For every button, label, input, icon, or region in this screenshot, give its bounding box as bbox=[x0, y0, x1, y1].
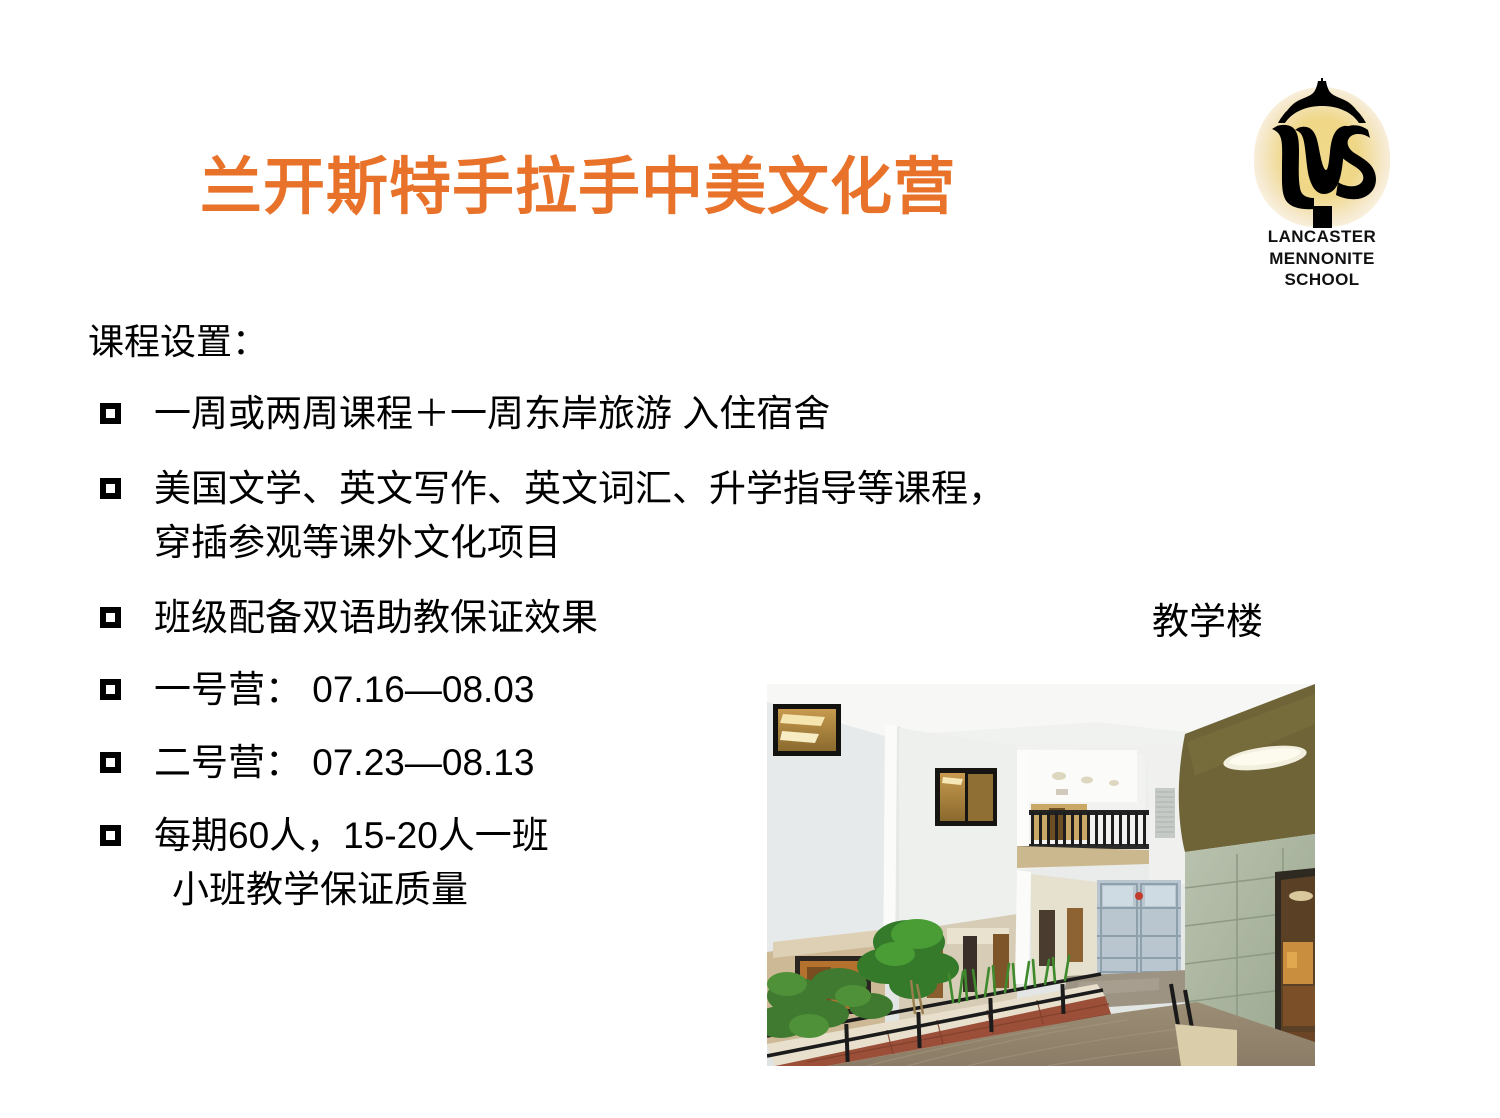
bullet-item-courses: 美国文学、英文写作、英文词汇、升学指导等课程， 穿插参观等课外文化项目 bbox=[88, 463, 1128, 570]
bullet-text-line-1: 班级配备双语助教保证效果 bbox=[154, 597, 598, 638]
hollow-square-bullet-icon bbox=[100, 752, 121, 773]
bullet-text-line-1: 二号营： 07.23—08.13 bbox=[154, 742, 534, 783]
section-heading: 课程设置： bbox=[88, 322, 1128, 362]
bullet-text-line-1: 一号营： 07.16—08.03 bbox=[154, 669, 534, 710]
bullet-text-line-1: 一周或两周课程＋一周东岸旅游 入住宿舍 bbox=[154, 393, 830, 434]
bullet-text-line-1: 每期60人，15-20人一班 bbox=[154, 815, 549, 856]
logo-wordmark-line-3: SCHOOL bbox=[1236, 269, 1408, 291]
logo-wordmark-line-1: LANCASTER bbox=[1236, 226, 1408, 248]
school-building-photo bbox=[767, 684, 1315, 1066]
hollow-square-bullet-icon bbox=[100, 478, 121, 499]
hollow-square-bullet-icon bbox=[100, 825, 121, 846]
hollow-square-bullet-icon bbox=[100, 679, 121, 700]
lancaster-mennonite-school-logo: LANCASTER MENNONITE SCHOOL bbox=[1236, 78, 1408, 304]
bullet-text-line-1: 美国文学、英文写作、英文词汇、升学指导等课程， bbox=[154, 468, 1005, 509]
bullet-item-bilingual-assistant: 班级配备双语助教保证效果 bbox=[88, 592, 1128, 645]
lms-lamp-emblem-icon bbox=[1244, 78, 1400, 230]
logo-wordmark: LANCASTER MENNONITE SCHOOL bbox=[1236, 226, 1408, 291]
logo-wordmark-line-2: MENNONITE bbox=[1236, 248, 1408, 270]
photo-caption: 教学楼 bbox=[1152, 600, 1263, 644]
bullet-text-line-2: 穿插参观等课外文化项目 bbox=[154, 517, 1128, 570]
slide-title: 兰开斯特手拉手中美文化营 bbox=[200, 155, 956, 222]
bullet-item-duration: 一周或两周课程＋一周东岸旅游 入住宿舍 bbox=[88, 388, 1128, 441]
hollow-square-bullet-icon bbox=[100, 607, 121, 628]
hollow-square-bullet-icon bbox=[100, 403, 121, 424]
presentation-slide: 兰开斯特手拉手中美文化营 LANCASTER MENNONITE bbox=[0, 0, 1500, 1118]
